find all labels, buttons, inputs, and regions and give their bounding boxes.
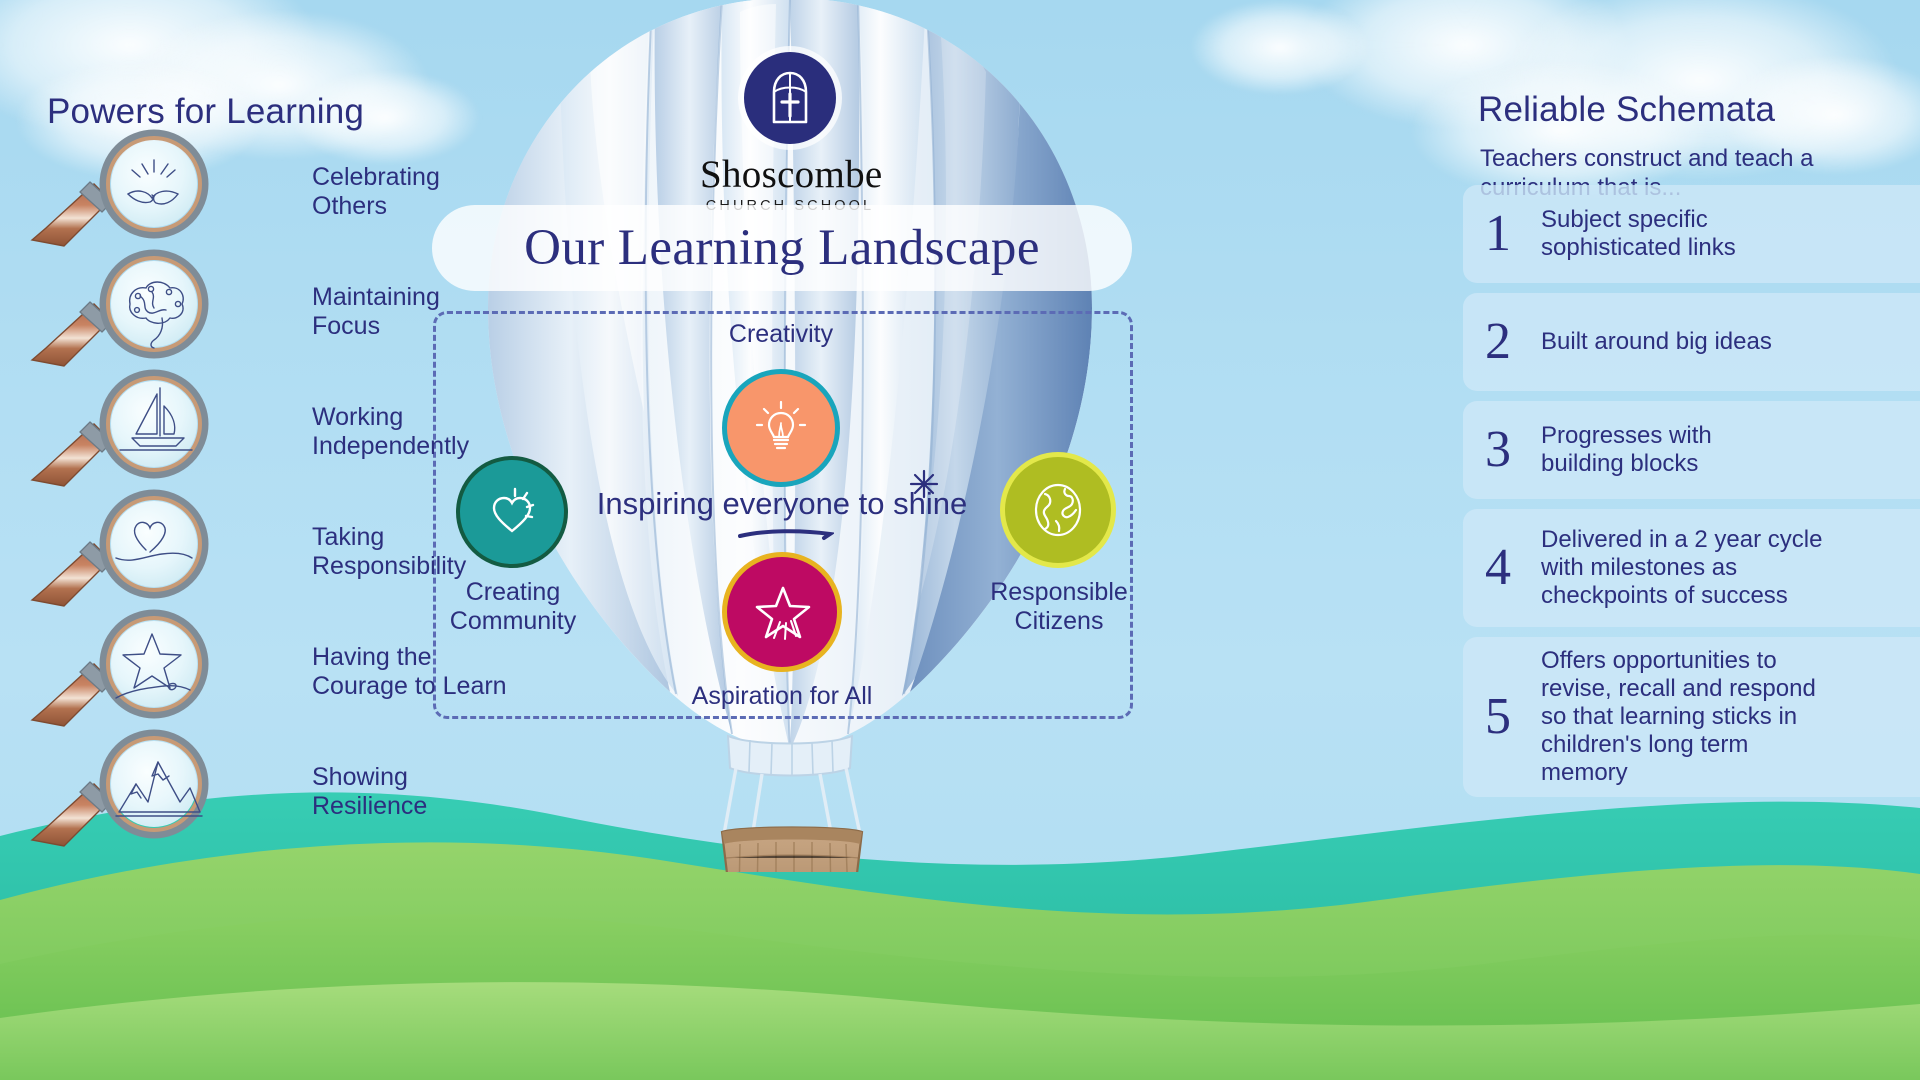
cloud (1190, 0, 1370, 95)
magnifier-taking-responsibility (24, 492, 256, 612)
schemata-number: 1 (1485, 208, 1541, 260)
list-item[interactable]: Celebrating Others (0, 132, 540, 252)
schemata-card[interactable]: 3 Progresses with building blocks (1463, 401, 1920, 499)
value-circle-aspiration-for-all (722, 552, 842, 672)
value-circle-responsible-citizens (1000, 452, 1116, 568)
reliable-schemata-title: Reliable Schemata (1478, 90, 1775, 130)
lightbulb-icon (746, 393, 816, 463)
globe-icon (1025, 477, 1091, 543)
magnifier-working-independently (24, 372, 256, 492)
power-label: Showing Resilience (312, 763, 542, 821)
infographic-canvas: Shoscombe CHURCH SCHOOL Our Learning Lan… (0, 0, 1920, 1080)
schemata-number: 2 (1485, 316, 1541, 368)
magnifier-showing-resilience (24, 732, 256, 852)
power-label: Taking Responsibility (312, 523, 542, 581)
schemata-number: 3 (1485, 424, 1541, 476)
schemata-card[interactable]: 4 Delivered in a 2 year cycle with miles… (1463, 509, 1920, 627)
schemata-text: Offers opportunities to revise, recall a… (1541, 647, 1816, 787)
value-label-responsible-citizens: Responsible Citizens (948, 578, 1170, 636)
magnifier-having-the-courage-to-learn (24, 612, 256, 732)
church-window-cross-icon (744, 52, 836, 144)
tagline-underline (738, 527, 834, 548)
schemata-text: Subject specific sophisticated links (1541, 206, 1736, 262)
magnifier-maintaining-focus (24, 252, 256, 372)
power-label: Maintaining Focus (312, 283, 542, 341)
magnifier-celebrating-others (24, 132, 256, 252)
power-label: Having the Courage to Learn (312, 643, 542, 701)
schemata-number: 5 (1485, 691, 1541, 743)
powers-for-learning-title: Powers for Learning (47, 92, 364, 132)
value-circle-creativity (722, 369, 840, 487)
list-item[interactable]: Maintaining Focus (0, 252, 540, 372)
schemata-text: Progresses with building blocks (1541, 422, 1712, 478)
page-title: Our Learning Landscape (524, 219, 1040, 277)
shooting-star-icon (746, 576, 818, 648)
list-item[interactable]: Showing Resilience (0, 732, 540, 852)
list-item[interactable]: Having the Courage to Learn (0, 612, 540, 732)
sparkle-icon (908, 468, 940, 505)
list-item[interactable]: Working Independently (0, 372, 540, 492)
school-logo: Shoscombe CHURCH SCHOOL (700, 52, 880, 214)
schemata-card[interactable]: 5 Offers opportunities to revise, recall… (1463, 637, 1920, 797)
schemata-card[interactable]: 2 Built around big ideas (1463, 293, 1920, 391)
value-label-aspiration-for-all: Aspiration for All (660, 682, 904, 711)
logo-school-name: Shoscombe (700, 152, 880, 197)
list-item[interactable]: Taking Responsibility (0, 492, 540, 612)
wicker-basket-icon (722, 828, 862, 873)
schemata-number: 4 (1485, 542, 1541, 594)
schemata-text: Built around big ideas (1541, 328, 1772, 356)
power-label: Celebrating Others (312, 163, 542, 221)
schemata-card-list: 1 Subject specific sophisticated links 2… (1463, 185, 1920, 807)
schemata-card[interactable]: 1 Subject specific sophisticated links (1463, 185, 1920, 283)
powers-for-learning-list: Celebrating Others (0, 132, 540, 852)
power-label: Working Independently (312, 403, 542, 461)
value-label-creativity: Creativity (660, 320, 902, 349)
schemata-text: Delivered in a 2 year cycle with milesto… (1541, 526, 1822, 610)
